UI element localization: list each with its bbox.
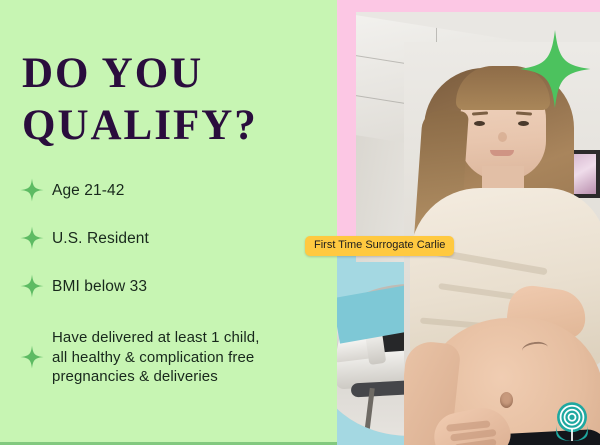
list-item-label: U.S. Resident: [52, 229, 149, 248]
sparkle-icon: [20, 226, 44, 250]
sparkle-icon: [20, 345, 44, 369]
status-badge: First Time Surrogate Carlie: [305, 236, 454, 256]
sparkle-icon: [519, 30, 591, 108]
sparkle-icon: [20, 274, 44, 298]
page-title: DO YOU QUALIFY?: [22, 48, 322, 152]
list-item-label-line-1: Have delivered at least 1 child,: [52, 329, 259, 346]
list-item-label: BMI below 33: [52, 277, 147, 296]
list-item-label: Age 21-42: [52, 181, 124, 200]
list-item-label-multiline: Have delivered at least 1 child, all hea…: [52, 328, 259, 387]
concentric-circles-logo-icon[interactable]: [550, 397, 594, 441]
headline-line-2: QUALIFY?: [22, 100, 322, 152]
list-item: Have delivered at least 1 child, all hea…: [20, 328, 330, 387]
qualification-list: Age 21-42 U.S. Resident BMI below 33: [20, 178, 330, 387]
headline-line-1: DO YOU: [22, 50, 203, 97]
sparkle-icon: [20, 178, 44, 202]
mouth: [490, 150, 514, 156]
list-item-label-line-2: all healthy & complication free: [52, 349, 254, 366]
list-item: Age 21-42: [20, 178, 330, 202]
green-content-panel: DO YOU QUALIFY? Age 21-42 U.S. Residen: [0, 0, 337, 445]
nose: [498, 132, 507, 142]
poster-canvas: DO YOU QUALIFY? Age 21-42 U.S. Residen: [0, 0, 600, 445]
list-item: BMI below 33: [20, 274, 330, 298]
navel: [500, 392, 513, 408]
list-item-label-line-3: pregnancies & deliveries: [52, 368, 218, 385]
list-item: U.S. Resident: [20, 226, 330, 250]
